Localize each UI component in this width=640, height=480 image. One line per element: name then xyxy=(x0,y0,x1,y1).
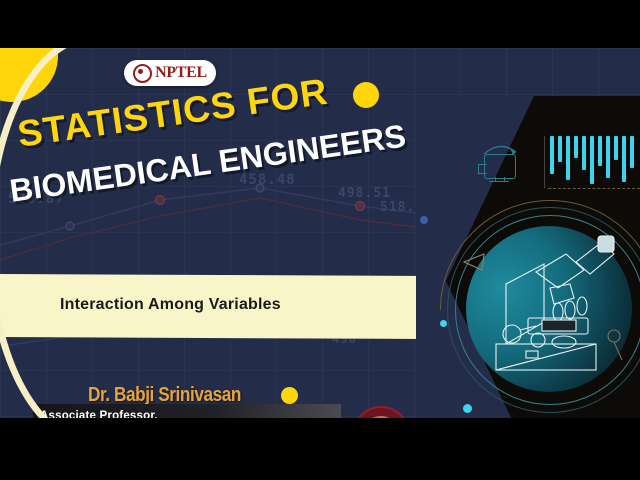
decor-dot-cyan xyxy=(440,320,447,327)
nptel-label: NPTEL xyxy=(155,64,207,82)
chart-value-label: 498.51 xyxy=(338,186,391,201)
subtitle-text: Interaction Among Variables xyxy=(60,296,400,314)
monitor-base xyxy=(489,181,509,182)
microscope-icon xyxy=(466,226,632,392)
bar-chart-axis xyxy=(544,136,545,188)
bar-chart-icon xyxy=(548,136,640,186)
video-frame: 520.87 458.48 498.51 518.6 462.59 496 ST… xyxy=(0,0,640,480)
node-link-icon xyxy=(600,326,640,366)
seal-inner xyxy=(362,416,400,418)
monitor-icon xyxy=(478,154,516,184)
rotate-arrow-icon xyxy=(458,248,488,278)
slide-content: 520.87 458.48 498.51 518.6 462.59 496 ST… xyxy=(0,48,640,418)
monitor-screen xyxy=(484,154,516,179)
monitor-plug xyxy=(478,164,487,174)
refresh-arrow-icon xyxy=(480,140,520,156)
nptel-emblem-icon xyxy=(133,64,152,83)
decor-dot-blue xyxy=(420,216,428,224)
presenter-accent-dot xyxy=(281,387,298,404)
decor-circle-small xyxy=(353,82,379,108)
bar-chart-baseline xyxy=(548,188,640,189)
nptel-logo: NPTEL xyxy=(124,60,216,86)
decor-dot-cyan xyxy=(463,404,472,413)
